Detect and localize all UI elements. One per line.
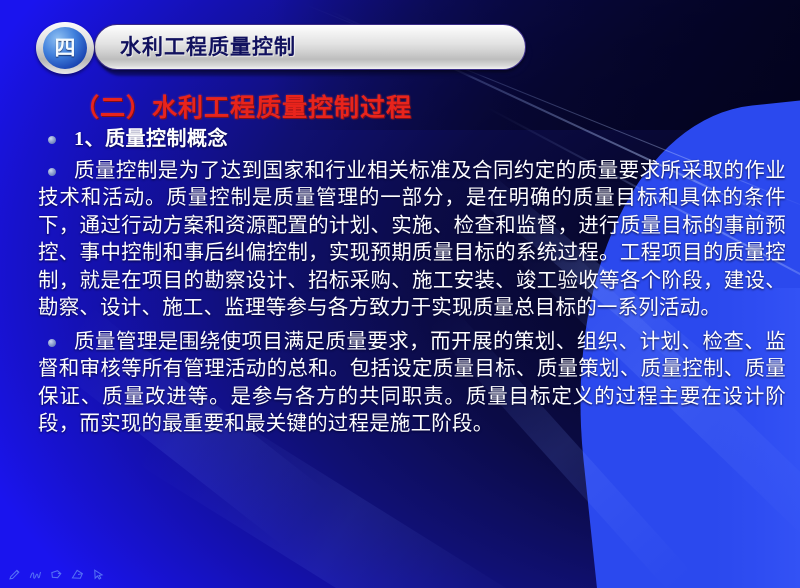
body-paragraph: 质量管理是围绕使项目满足质量要求，而开展的策划、组织、计划、检查、监督和审核等所… [36,329,786,439]
slide-body: 1、质量控制概念 质量控制是为了达到国家和行业相关标准及合同约定的质量要求所采取… [36,126,786,439]
annotation-toolbar[interactable] [7,567,106,582]
highlighter-icon[interactable] [49,567,64,582]
eraser-icon[interactable] [70,567,85,582]
body-heading: 1、质量控制概念 [36,126,786,154]
section-badge-label: 四 [55,38,76,59]
section-badge-circle: 四 [43,27,87,69]
bullet-dot-icon [48,168,56,176]
header-banner: 水利工程质量控制 四 [36,22,526,72]
slide-canvas: 水利工程质量控制 四 （二）水利工程质量控制过程 1、质量控制概念 质量控制是为… [0,0,800,588]
section-badge: 四 [36,22,94,74]
body-heading-text: 1、质量控制概念 [74,128,228,150]
body-paragraph-text: 质量控制是为了达到国家和行业相关标准及合同约定的质量要求所采取的作业技术和活动。… [38,160,786,320]
scribble-icon[interactable] [28,567,43,582]
pen-icon[interactable] [7,567,22,582]
pointer-icon[interactable] [91,567,106,582]
slide-subtitle: （二）水利工程质量控制过程 [74,88,412,124]
header-title: 水利工程质量控制 [120,31,296,61]
bullet-dot-icon [48,136,56,144]
body-paragraph: 质量控制是为了达到国家和行业相关标准及合同约定的质量要求所采取的作业技术和活动。… [36,158,786,323]
body-paragraph-text: 质量管理是围绕使项目满足质量要求，而开展的策划、组织、计划、检查、监督和审核等所… [38,331,786,436]
bullet-dot-icon [48,339,56,347]
